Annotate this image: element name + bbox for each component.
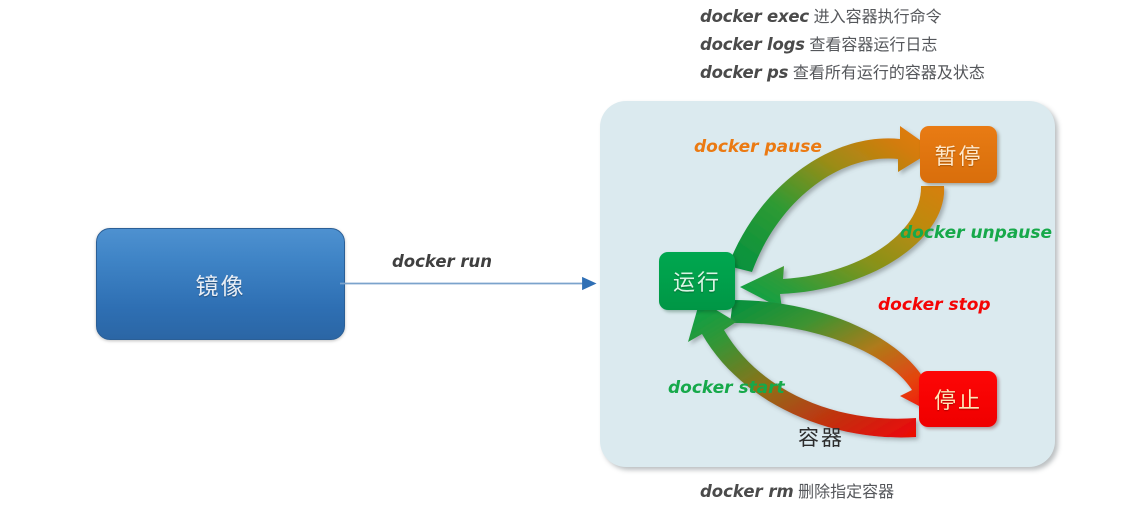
state-node-running: 运行 — [659, 252, 735, 310]
state-node-stopped: 停止 — [919, 371, 997, 427]
note-description: 查看所有运行的容器及状态 — [793, 63, 985, 82]
run-edge-label: docker run — [392, 252, 492, 271]
state-label-paused: 暂停 — [934, 139, 982, 171]
note-command: docker exec — [700, 7, 809, 26]
note-description: 进入容器执行命令 — [814, 7, 942, 26]
note-line-exec: docker exec 进入容器执行命令 — [700, 3, 1120, 31]
state-label-running: 运行 — [673, 265, 721, 297]
note-command: docker rm — [700, 482, 794, 501]
transition-label-start: docker start — [668, 378, 785, 398]
container-label: 容器 — [798, 422, 844, 452]
note-line-logs: docker logs 查看容器运行日志 — [700, 31, 1120, 59]
top-notes: docker exec 进入容器执行命令 docker logs 查看容器运行日… — [700, 3, 1120, 87]
diagram-canvas: docker exec 进入容器执行命令 docker logs 查看容器运行日… — [0, 0, 1131, 528]
note-command: docker ps — [700, 63, 788, 82]
state-node-paused: 暂停 — [920, 126, 997, 183]
image-node-label: 镜像 — [196, 267, 246, 301]
bottom-note: docker rm 删除指定容器 — [700, 478, 894, 502]
image-node: 镜像 — [96, 228, 345, 340]
note-description: 查看容器运行日志 — [809, 35, 937, 54]
transition-label-pause: docker pause — [694, 137, 822, 157]
note-command: docker logs — [700, 35, 805, 54]
transition-label-unpause: docker unpause — [900, 223, 1052, 243]
note-line-ps: docker ps 查看所有运行的容器及状态 — [700, 59, 1120, 87]
transition-label-stop: docker stop — [878, 295, 991, 315]
note-description: 删除指定容器 — [798, 482, 894, 501]
state-label-stopped: 停止 — [934, 383, 982, 415]
